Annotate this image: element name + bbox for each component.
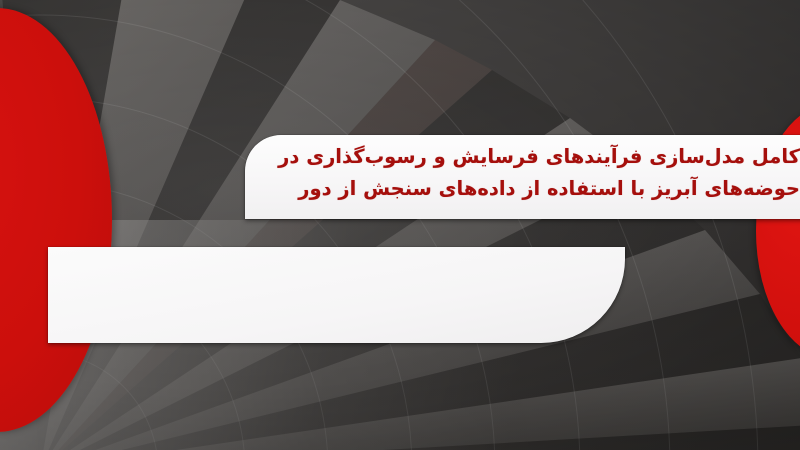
title-placeholder-box[interactable]: کامل مدل‌سازی فرآیندهای فرسایش و رسوب‌گذ… (245, 135, 800, 219)
slide-title[interactable]: کامل مدل‌سازی فرآیندهای فرسایش و رسوب‌گذ… (271, 141, 800, 204)
title-slide: کامل مدل‌سازی فرآیندهای فرسایش و رسوب‌گذ… (0, 0, 800, 450)
subtitle-placeholder-box[interactable] (48, 247, 625, 343)
